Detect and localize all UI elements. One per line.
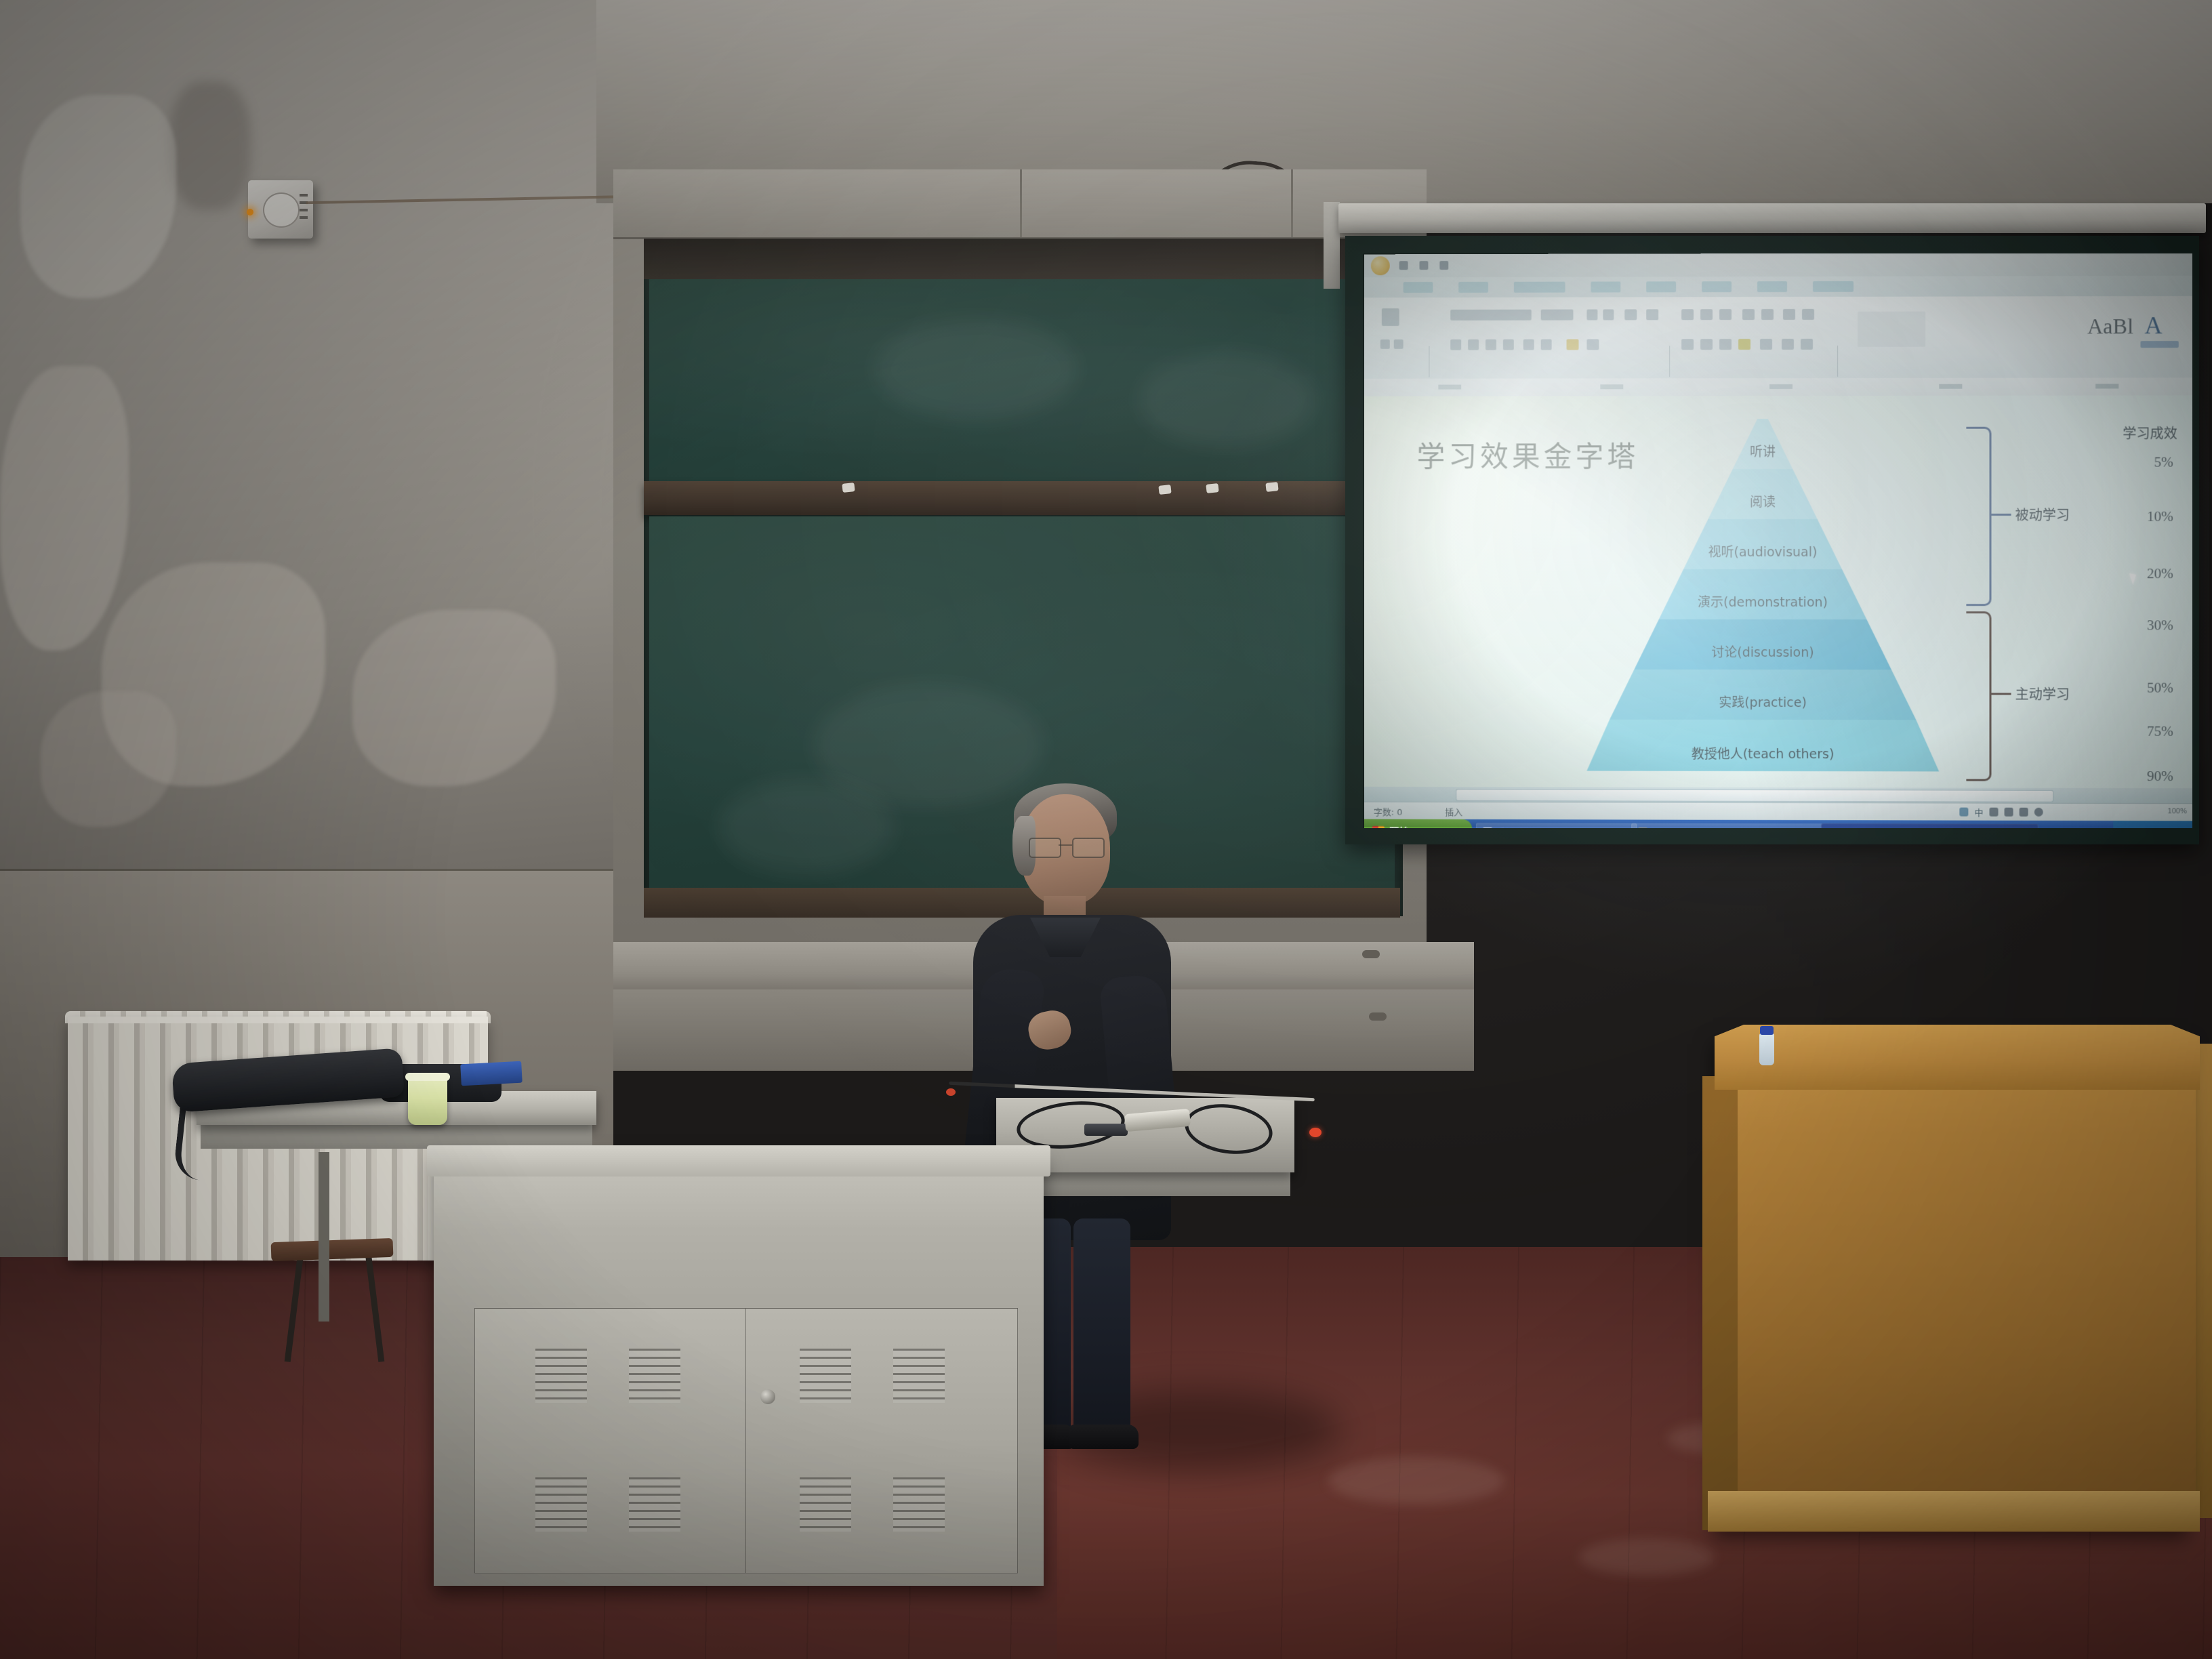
- show-marks-icon[interactable]: [1802, 309, 1814, 320]
- cabinet-top: [427, 1145, 1050, 1176]
- efficiency-value-5: 50%: [2147, 680, 2173, 697]
- lectern-base-trim: [1708, 1491, 2200, 1532]
- tab-review[interactable]: [1702, 281, 1732, 292]
- pyramid-label-2: 阅读: [1586, 492, 1939, 510]
- word-count-label: 字数: 0: [1374, 805, 1403, 818]
- copy-icon[interactable]: [1394, 340, 1404, 349]
- insert-mode-label: 插入: [1445, 805, 1462, 818]
- chalk-piece[interactable]: [1158, 485, 1171, 495]
- louver-vent: [535, 1477, 587, 1532]
- learning-pyramid-chart: 听讲 阅读 视听(audiovisual) 演示(demonstration) …: [1586, 419, 1939, 772]
- chalk-piece[interactable]: [1265, 482, 1278, 492]
- start-button-label: 开始: [1389, 824, 1410, 828]
- multilevel-list-icon[interactable]: [1719, 309, 1732, 320]
- taskbar-item[interactable]: 2016011508218学: [1631, 823, 1826, 828]
- document-canvas: 学习效果金字塔 听讲 阅读 视听(audiovisual) 演示(demonst…: [1364, 395, 2192, 788]
- word-title-bar: [1364, 253, 2192, 277]
- efficiency-value-3: 20%: [2147, 565, 2173, 582]
- paper-cup[interactable]: [408, 1076, 447, 1125]
- cabinet-handle[interactable]: [1369, 1012, 1387, 1021]
- projection-screen-surface: AaBl A 学习效果金字塔: [1363, 253, 2192, 828]
- louver-vent: [893, 1349, 945, 1403]
- lectern-top-ledge: [1715, 1025, 2200, 1090]
- group-label-active: 主动学习: [2015, 683, 2070, 703]
- efficiency-header: 学习成效: [2123, 422, 2177, 442]
- app-icon: [1483, 827, 1492, 828]
- shrink-font-icon[interactable]: [1603, 309, 1614, 320]
- tab-view[interactable]: [1757, 281, 1787, 292]
- brace-tick-passive: [1989, 514, 2011, 516]
- louver-vent: [893, 1477, 945, 1532]
- pyramid-label-5: 讨论(discussion): [1586, 642, 1939, 661]
- efficiency-value-6: 75%: [2147, 723, 2173, 740]
- change-styles-icon[interactable]: [2140, 341, 2178, 348]
- tab-mailings[interactable]: [1646, 281, 1676, 292]
- louver-vent: [535, 1349, 587, 1403]
- shelf-handle[interactable]: [1362, 950, 1380, 958]
- borders-icon[interactable]: [1801, 339, 1813, 350]
- cabinet-door-left[interactable]: [474, 1308, 747, 1574]
- tab-home[interactable]: [1404, 282, 1433, 293]
- bottle-cap: [1760, 1026, 1774, 1035]
- group-label-passive: 被动学习: [2015, 504, 2070, 524]
- efficiency-value-7: 90%: [2147, 768, 2173, 785]
- chalk-smudge: [874, 319, 1078, 420]
- cabinet-door-right[interactable]: [745, 1308, 1018, 1574]
- pyramid-label-1: 听讲: [1586, 442, 1939, 460]
- taskbar-item-label: 2016011508218学: [1652, 827, 1727, 828]
- scrollbar-thumb[interactable]: [1456, 789, 2053, 802]
- change-case-icon[interactable]: [1624, 309, 1637, 320]
- word-ruler: [1364, 377, 2192, 396]
- pointer-tip: [1309, 1128, 1322, 1137]
- highlight-icon[interactable]: [1567, 339, 1579, 350]
- office-orb-icon[interactable]: [1371, 256, 1390, 275]
- word-ribbon-tabs: [1364, 276, 2192, 298]
- word-status-bar: 字数: 0 插入 中 100%: [1364, 802, 2192, 822]
- undo-icon[interactable]: [1419, 261, 1428, 270]
- justify-icon[interactable]: [1738, 339, 1750, 350]
- water-bottle[interactable]: [1759, 1033, 1774, 1065]
- sort-icon[interactable]: [1783, 309, 1795, 320]
- taskbar-item-label: 学习效果金字塔 -...: [1842, 827, 1912, 828]
- font-color-icon[interactable]: [1586, 339, 1599, 350]
- clear-format-icon[interactable]: [1646, 309, 1658, 320]
- align-center-icon[interactable]: [1700, 339, 1713, 350]
- zoom-level-label[interactable]: 100%: [2168, 807, 2187, 815]
- pyramid-label-4: 演示(demonstration): [1586, 592, 1939, 611]
- chalk-smudge: [1139, 352, 1315, 447]
- brace-active-learning: [1966, 611, 1991, 781]
- decrease-indent-icon[interactable]: [1742, 309, 1755, 320]
- tab-page-layout[interactable]: [1514, 282, 1565, 293]
- bullets-icon[interactable]: [1681, 309, 1694, 320]
- style-gallery[interactable]: [1858, 312, 1925, 347]
- projection-screen-housing: [1338, 203, 2206, 233]
- strikethrough-icon[interactable]: [1503, 340, 1514, 350]
- line-spacing-icon[interactable]: [1760, 339, 1772, 350]
- table-leg: [319, 1152, 329, 1322]
- ime-tray[interactable]: 中: [1959, 806, 2043, 819]
- chalkboard-top-shadow: [644, 239, 1403, 279]
- classroom-photo: AaBl A 学习效果金字塔: [0, 0, 2212, 1659]
- floor-scuff: [1579, 1538, 1715, 1576]
- numbering-icon[interactable]: [1700, 309, 1713, 320]
- tab-insert[interactable]: [1458, 282, 1488, 293]
- efficiency-value-1: 5%: [2154, 454, 2173, 471]
- wooden-lectern: [1721, 1037, 2196, 1532]
- brace-tick-active: [1989, 693, 2011, 695]
- wall-stain: [169, 81, 251, 210]
- redo-icon[interactable]: [1439, 261, 1448, 270]
- increase-indent-icon[interactable]: [1761, 309, 1774, 320]
- ime-softkeyboard-icon[interactable]: [2020, 808, 2028, 817]
- paste-icon[interactable]: [1382, 308, 1399, 326]
- style-normal-label[interactable]: AaBl: [2087, 314, 2133, 339]
- paper-cup-rim: [405, 1073, 450, 1081]
- lens-left: [1029, 838, 1061, 858]
- louver-vent: [800, 1349, 851, 1403]
- projected-image: AaBl A 学习效果金字塔: [1364, 253, 2192, 828]
- shading-icon[interactable]: [1782, 339, 1794, 350]
- louver-vent: [629, 1477, 680, 1532]
- ime-shape-icon[interactable]: [2005, 808, 2013, 817]
- ime-settings-icon[interactable]: [2034, 808, 2043, 817]
- start-button[interactable]: 开始: [1364, 819, 1472, 828]
- pyramid-label-3: 视听(audiovisual): [1586, 542, 1939, 560]
- horizontal-scrollbar[interactable]: [1364, 787, 2192, 803]
- align-right-icon[interactable]: [1719, 339, 1732, 350]
- save-icon[interactable]: [1399, 261, 1408, 270]
- wall-control-box[interactable]: [248, 180, 313, 239]
- lens-right: [1072, 838, 1105, 858]
- shoe-right: [1068, 1425, 1139, 1449]
- brace-passive-learning: [1966, 427, 1991, 606]
- align-left-icon[interactable]: [1681, 339, 1694, 350]
- blue-carton[interactable]: [460, 1061, 523, 1086]
- ime-mode-label[interactable]: 中: [1974, 806, 1983, 819]
- leg-right: [1073, 1218, 1130, 1435]
- glasses-icon: [1029, 838, 1105, 855]
- side-table-apron: [201, 1122, 592, 1149]
- louver-vent: [800, 1477, 851, 1532]
- glasses-bridge: [1059, 844, 1072, 846]
- lectern-side-panel: [1702, 1076, 1738, 1530]
- grow-font-icon[interactable]: [1586, 309, 1597, 320]
- windows-taskbar: 开始 手机助手 2016011508218学 学习效果金字塔 -...: [1364, 819, 2192, 828]
- pyramid-label-7: 教授他人(teach others): [1586, 744, 1939, 763]
- font-name-input[interactable]: [1450, 310, 1531, 321]
- louver-vent: [629, 1349, 680, 1403]
- efficiency-value-4: 30%: [2147, 617, 2173, 634]
- underline-icon[interactable]: [1486, 340, 1496, 350]
- ime-punctuation-icon[interactable]: [1990, 808, 1999, 817]
- pyramid-label-6: 实践(practice): [1586, 693, 1939, 712]
- tab-references[interactable]: [1591, 281, 1620, 292]
- subscript-icon[interactable]: [1523, 340, 1534, 350]
- word-ribbon: AaBl A: [1364, 296, 2192, 380]
- bold-icon[interactable]: [1468, 340, 1479, 350]
- cut-icon[interactable]: [1380, 340, 1390, 349]
- chalk-piece[interactable]: [1206, 483, 1218, 493]
- superscript-icon[interactable]: [1541, 340, 1552, 350]
- ime-language-icon[interactable]: [1959, 808, 1968, 817]
- font-size-input[interactable]: [1541, 310, 1574, 321]
- floor-scuff: [1328, 1457, 1504, 1504]
- chalk-ledge: [644, 481, 1400, 515]
- cabinet-lock-icon[interactable]: [760, 1389, 775, 1404]
- pointer-grip: [946, 1088, 956, 1096]
- power-led-icon: [247, 209, 253, 216]
- system-tray[interactable]: [2113, 821, 2192, 828]
- panel-seam: [1020, 169, 1022, 237]
- efficiency-value-2: 10%: [2147, 508, 2173, 525]
- taskbar-item-active[interactable]: 学习效果金字塔 -...: [1821, 823, 2039, 828]
- tab-developer[interactable]: [1813, 281, 1853, 292]
- taskbar-item-label: 手机助手: [1497, 827, 1530, 828]
- chalk-smudge: [718, 779, 895, 874]
- control-knob[interactable]: [263, 192, 300, 228]
- windows-flag-icon: [1372, 826, 1385, 828]
- screen-bracket: [1324, 202, 1340, 289]
- italic-icon[interactable]: [1450, 340, 1461, 350]
- taskbar-item[interactable]: 手机助手: [1476, 823, 1637, 828]
- chalk-piece[interactable]: [842, 483, 855, 493]
- mic-connector[interactable]: [1084, 1124, 1128, 1136]
- panel-seam: [1291, 169, 1293, 237]
- style-heading-label[interactable]: A: [2145, 311, 2163, 340]
